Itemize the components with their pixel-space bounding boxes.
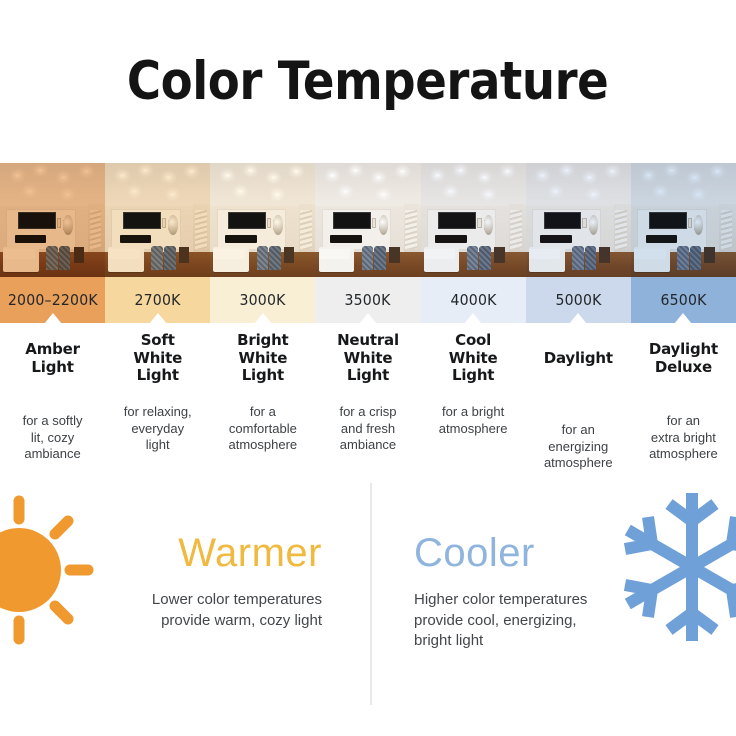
light-type-description: for acomfortableatmosphere: [216, 404, 309, 454]
light-type-cell: NeutralWhiteLightfor a crispand freshamb…: [315, 332, 420, 477]
warm-cool-comparison: Warmer Lower color temperaturesprovide w…: [0, 477, 736, 736]
swatch-pointer-notch: [674, 313, 692, 324]
color-cast-highlight: [315, 163, 420, 277]
living-room-2000k: [0, 163, 105, 277]
color-cast-highlight: [0, 163, 105, 277]
light-type-cell: Daylightfor anenergizingatmosphere: [526, 332, 631, 477]
light-type-name: NeutralWhiteLight: [321, 332, 414, 394]
light-type-name: CoolWhiteLight: [427, 332, 520, 394]
light-type-description: for a crispand freshambiance: [321, 404, 414, 454]
kelvin-swatch-row: 2000–2200K2700K3000K3500K4000K5000K6500K: [0, 277, 736, 323]
kelvin-swatch[interactable]: 2700K: [105, 277, 210, 323]
cooler-panel: Cooler Higher color temperaturesprovide …: [368, 477, 736, 736]
swatch-pointer-notch: [569, 313, 587, 324]
light-type-cell: CoolWhiteLightfor a brightatmosphere: [421, 332, 526, 477]
light-type-name: AmberLight: [6, 332, 99, 403]
light-type-description: for relaxing,everydaylight: [111, 404, 204, 454]
kelvin-swatch[interactable]: 4000K: [421, 277, 526, 323]
light-type-name: BrightWhiteLight: [216, 332, 309, 394]
light-type-name: Daylight: [532, 332, 625, 412]
living-room-6500k: [631, 163, 736, 277]
swatch-pointer-notch: [359, 313, 377, 324]
kelvin-swatch[interactable]: 2000–2200K: [0, 277, 105, 323]
infographic-page: Color Temperature 2000–2200K2700K3000K35…: [0, 0, 736, 736]
warmer-heading: Warmer: [178, 533, 322, 573]
light-description-row: AmberLightfor a softlylit, cozyambianceS…: [0, 332, 736, 477]
color-cast-highlight: [631, 163, 736, 277]
light-type-cell: SoftWhiteLightfor relaxing,everydaylight: [105, 332, 210, 477]
kelvin-swatch[interactable]: 6500K: [631, 277, 736, 323]
kelvin-label: 6500K: [660, 291, 706, 309]
title-area: Color Temperature: [0, 0, 736, 163]
kelvin-swatch[interactable]: 5000K: [526, 277, 631, 323]
light-type-cell: AmberLightfor a softlylit, cozyambiance: [0, 332, 105, 477]
kelvin-swatch[interactable]: 3500K: [315, 277, 420, 323]
living-room-4000k: [421, 163, 526, 277]
living-room-2700k: [105, 163, 210, 277]
swatch-pointer-notch: [464, 313, 482, 324]
kelvin-label: 2700K: [135, 291, 181, 309]
living-room-3000k: [210, 163, 315, 277]
light-type-description: for anenergizingatmosphere: [532, 422, 625, 472]
kelvin-label: 2000–2200K: [8, 291, 98, 309]
color-cast-highlight: [526, 163, 631, 277]
cooler-heading: Cooler: [414, 533, 535, 573]
color-cast-highlight: [421, 163, 526, 277]
living-room-3500k: [315, 163, 420, 277]
light-type-cell: DaylightDeluxefor anextra brightatmosphe…: [631, 332, 736, 477]
swatch-pointer-notch: [254, 313, 272, 324]
light-type-name: DaylightDeluxe: [637, 332, 730, 403]
kelvin-label: 3000K: [240, 291, 286, 309]
light-type-name: SoftWhiteLight: [111, 332, 204, 394]
snowflake-icon: [612, 487, 736, 647]
light-type-description: for anextra brightatmosphere: [637, 413, 730, 463]
kelvin-label: 5000K: [555, 291, 601, 309]
swatch-pointer-notch: [44, 313, 62, 324]
kelvin-label: 3500K: [345, 291, 391, 309]
color-cast-highlight: [210, 163, 315, 277]
light-type-description: for a brightatmosphere: [427, 404, 520, 437]
swatch-pointer-notch: [149, 313, 167, 324]
warmer-panel: Warmer Lower color temperaturesprovide w…: [0, 477, 368, 736]
light-type-cell: BrightWhiteLightfor acomfortableatmosphe…: [210, 332, 315, 477]
color-cast-highlight: [105, 163, 210, 277]
kelvin-swatch[interactable]: 3000K: [210, 277, 315, 323]
living-room-5000k: [526, 163, 631, 277]
light-type-description: for a softlylit, cozyambiance: [6, 413, 99, 463]
warmer-body-text: Lower color temperaturesprovide warm, co…: [42, 590, 322, 631]
room-photo-strip: [0, 163, 736, 277]
page-title: Color Temperature: [127, 55, 609, 108]
kelvin-label: 4000K: [450, 291, 496, 309]
